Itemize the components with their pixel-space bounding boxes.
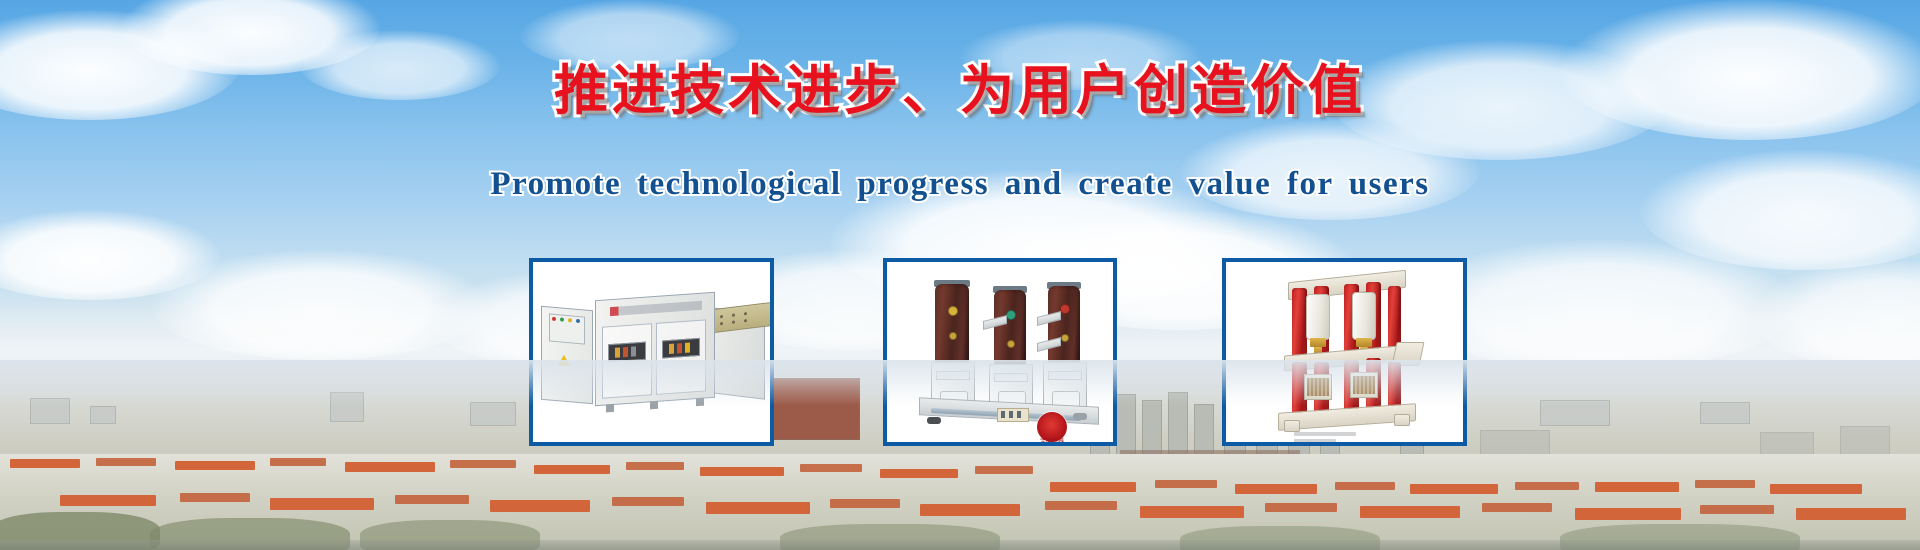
banner-subtitle: Promote technological progress and creat… (0, 166, 1920, 203)
product-gallery: 宝同电器 (0, 258, 1920, 448)
banner-headline: 推进技术进步、为用户创造价值 (0, 46, 1920, 125)
vacuum-interrupter-1 (1306, 294, 1330, 340)
product-panel-hv-contactor[interactable] (1222, 258, 1467, 446)
product-image-hv-contactor (1226, 262, 1463, 442)
terminal-block (997, 408, 1029, 422)
promotional-banner: 推进技术进步、为用户创造价值 Promote technological pro… (0, 0, 1920, 550)
product-image-switchgear-cabinet (533, 262, 770, 442)
insulator-pole-3 (1048, 286, 1080, 364)
product-panel-switchgear-cabinet[interactable] (529, 258, 774, 446)
bottom-edge (0, 540, 1920, 550)
insulator-pole-2 (994, 290, 1026, 366)
cityscape-background (0, 360, 1920, 550)
vacuum-interrupter-2 (1352, 292, 1376, 340)
brand-seal-text: 宝同电器 (1026, 438, 1078, 445)
product-image-vacuum-contactor: 宝同电器 (887, 262, 1113, 442)
product-panel-vacuum-contactor[interactable]: 宝同电器 (883, 258, 1117, 446)
insulator-pole-1 (935, 284, 969, 364)
